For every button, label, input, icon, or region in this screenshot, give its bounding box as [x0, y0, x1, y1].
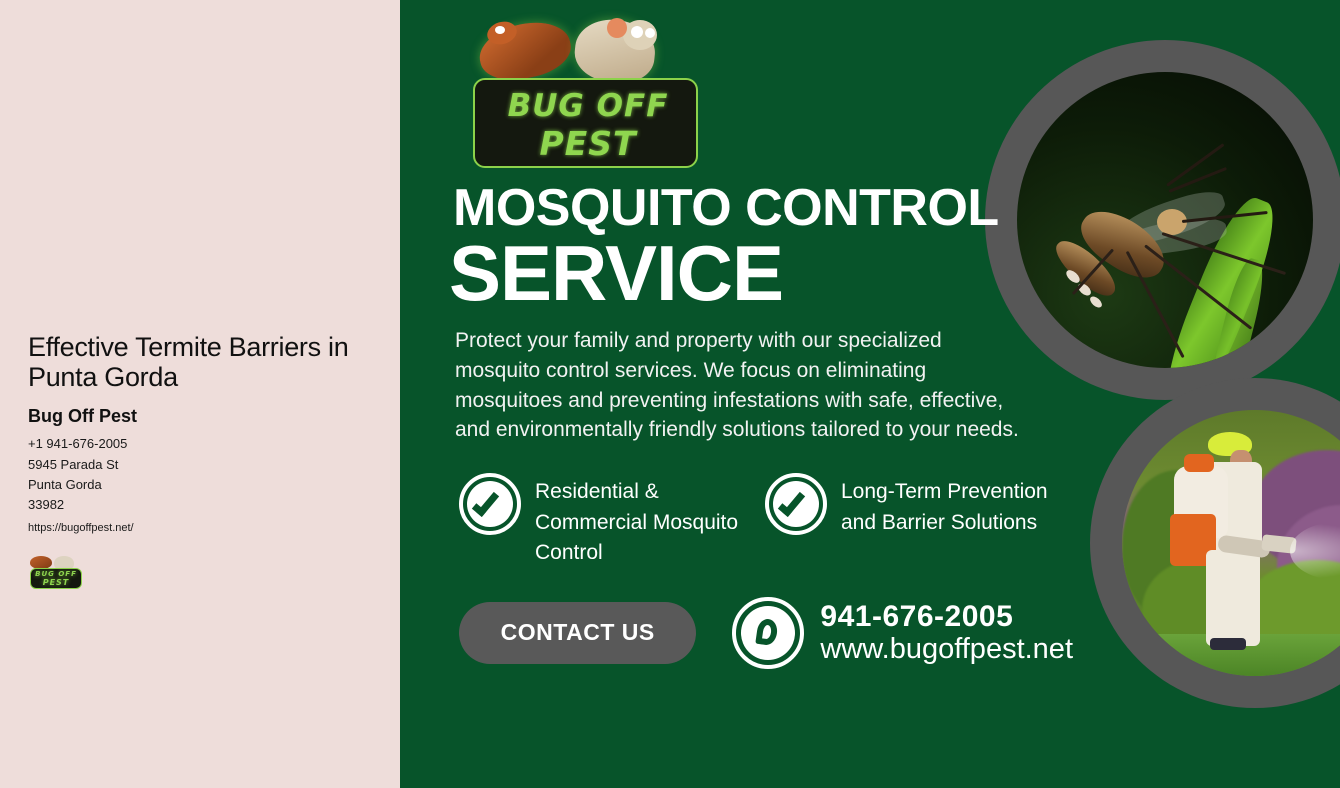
check-circle-icon: [459, 473, 521, 535]
poster-content: BUG OFF PEST MOSQUITO CONTROL SERVICE Pr…: [453, 0, 1073, 669]
bug-off-pest-logo-small: BUG OFF PEST: [28, 556, 84, 590]
feature-label: Long-Term Prevention and Barrier Solutio…: [841, 471, 1065, 538]
poster-title-line-1: MOSQUITO CONTROL: [453, 184, 1073, 234]
logo-word-top-small: BUG OFF: [28, 570, 84, 578]
poster-title-line-2: SERVICE: [449, 236, 1073, 310]
phone-contact-block[interactable]: 941-676-2005 www.bugoffpest.net: [732, 597, 1073, 669]
page-title: Effective Termite Barriers in Punta Gord…: [28, 332, 388, 392]
feature-list: Residential & Commercial Mosquito Contro…: [459, 471, 1073, 568]
feature-item: Residential & Commercial Mosquito Contro…: [459, 471, 739, 568]
business-zip: 33982: [28, 495, 388, 515]
logo-word-bottom: PEST: [473, 124, 703, 163]
pest-control-technician-spraying-photo: [1122, 410, 1340, 676]
business-phone: +1 941-676-2005: [28, 434, 388, 454]
poster-panel: BUG OFF PEST MOSQUITO CONTROL SERVICE Pr…: [400, 0, 1340, 788]
left-info-panel: Effective Termite Barriers in Punta Gord…: [0, 0, 400, 788]
cta-row: CONTACT US 941-676-2005 www.bugoffpest.n…: [459, 597, 1073, 669]
left-info-content: Effective Termite Barriers in Punta Gord…: [28, 332, 388, 590]
contact-us-button[interactable]: CONTACT US: [459, 602, 696, 664]
business-street: 5945 Parada St: [28, 455, 388, 475]
cockroach-icon: [474, 15, 575, 87]
logo-word-top: BUG OFF: [473, 88, 703, 124]
check-circle-icon: [765, 473, 827, 535]
business-website-link[interactable]: https://bugoffpest.net/: [28, 522, 388, 534]
website-url[interactable]: www.bugoffpest.net: [820, 633, 1073, 665]
bug-off-pest-logo: BUG OFF PEST: [473, 16, 703, 176]
phone-icon: [732, 597, 804, 669]
business-name: Bug Off Pest: [28, 406, 388, 427]
poster-page: Effective Termite Barriers in Punta Gord…: [0, 0, 1340, 788]
logo-word-bottom-small: PEST: [28, 578, 84, 587]
feature-label: Residential & Commercial Mosquito Contro…: [535, 471, 739, 568]
poster-body-text: Protect your family and property with ou…: [455, 326, 1021, 445]
feature-item: Long-Term Prevention and Barrier Solutio…: [765, 471, 1065, 568]
business-city: Punta Gorda: [28, 475, 388, 495]
phone-number[interactable]: 941-676-2005: [820, 600, 1073, 634]
